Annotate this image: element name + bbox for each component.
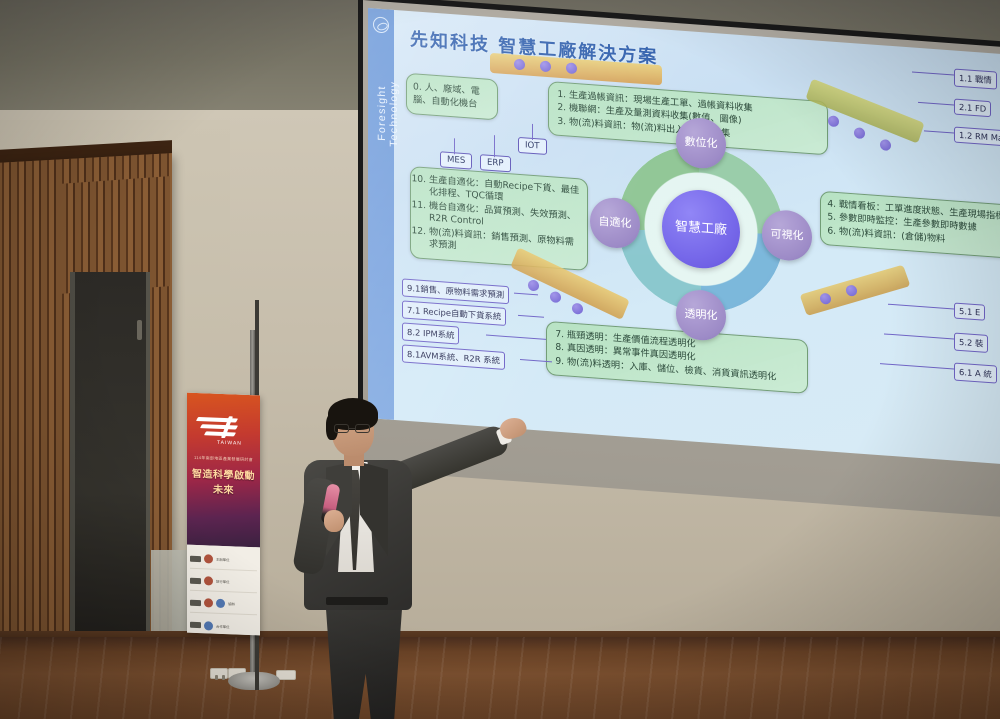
wire-right-4 bbox=[888, 304, 954, 310]
label-war-room[interactable]: 1.1 戰情 bbox=[954, 69, 997, 90]
sponsor-row: 合作單位 bbox=[190, 615, 257, 636]
tag-mes[interactable]: MES bbox=[440, 151, 472, 169]
sponsor-row: 執行單位 bbox=[190, 571, 257, 594]
band-dot bbox=[854, 127, 865, 139]
band-dot bbox=[880, 139, 891, 151]
tag-erp[interactable]: ERP bbox=[480, 154, 511, 172]
sponsor-row: 主辦單位 bbox=[190, 549, 257, 572]
band-dot bbox=[828, 115, 839, 127]
wire-iot bbox=[532, 124, 533, 140]
wire-right-6 bbox=[880, 363, 954, 369]
wire-right-1 bbox=[912, 71, 954, 75]
label-avm-r2r-system[interactable]: 8.1AVM系統、R2R 系統 bbox=[402, 344, 505, 369]
band-dot bbox=[528, 280, 539, 292]
band-dot bbox=[820, 293, 831, 305]
band-dot bbox=[514, 59, 525, 71]
presentation-photo: TAIWAN 114年南部地區產業發展研討會 智造科學啟動未來 主辦單位 執行單… bbox=[0, 0, 1000, 719]
presenter-legs bbox=[322, 600, 406, 719]
label-6-1[interactable]: 6.1 A 統 bbox=[954, 363, 997, 384]
label-recipe-system[interactable]: 7.1 Recipe自動下貨系統 bbox=[402, 300, 506, 326]
callout-adaptive: 生產自適化：自動Recipe下貨、最佳化排程、TQC循環 機台自適化：品質預測、… bbox=[410, 166, 588, 270]
label-5-2[interactable]: 5.2 裝 bbox=[954, 333, 988, 353]
presenter-belt bbox=[326, 597, 388, 605]
banner-sponsor-block: 主辦單位 執行單位 協辦 合作單位 bbox=[187, 545, 260, 636]
smart-factory-ring-diagram: 智慧工廠 數位化 可視化 透明化 自適化 bbox=[596, 117, 806, 342]
foresight-logo-icon bbox=[373, 16, 389, 33]
label-ipm-system[interactable]: 8.2 IPM系統 bbox=[402, 322, 459, 344]
presenter bbox=[286, 392, 516, 719]
callout-inputs-text: 0. 人、廠域、電腦、自動化機台 bbox=[413, 81, 480, 110]
watermark-label: Foresight Technology bbox=[376, 65, 400, 163]
band-dot bbox=[540, 60, 551, 72]
wire-right-3 bbox=[924, 130, 954, 133]
slide-watermark-strip: Foresight Technology bbox=[368, 8, 394, 420]
wire-right-5 bbox=[884, 333, 954, 339]
presenter-glasses bbox=[334, 424, 372, 433]
wire-erp bbox=[494, 135, 495, 157]
door-handle[interactable] bbox=[137, 320, 142, 340]
event-banner: TAIWAN 114年南部地區產業發展研討會 智造科學啟動未來 主辦單位 執行單… bbox=[187, 393, 260, 636]
label-sales-forecast[interactable]: 9.1銷售、原物料需求預測 bbox=[402, 278, 509, 304]
band-dot bbox=[846, 285, 857, 297]
wire-mes bbox=[454, 138, 455, 154]
wire-label-1 bbox=[514, 293, 538, 296]
wall-outlet-1[interactable] bbox=[210, 668, 228, 679]
sponsor-row: 協辦 bbox=[190, 593, 257, 616]
banner-gradient-panel: TAIWAN 114年南部地區產業發展研討會 智造科學啟動未來 bbox=[187, 393, 260, 548]
label-rm-management[interactable]: 1.2 RM Manag bbox=[954, 127, 1000, 148]
band-dot bbox=[566, 62, 577, 74]
label-5-1[interactable]: 5.1 E bbox=[954, 303, 985, 321]
banner-logo-text: TAIWAN bbox=[217, 440, 242, 447]
callout-inputs: 0. 人、廠域、電腦、自動化機台 bbox=[406, 73, 498, 120]
callout-visual: 戰情看板：工單進度狀態、生產現場指標 參數即時監控：生產參數即時數據 物(流)料… bbox=[820, 191, 1000, 259]
band-dot bbox=[572, 303, 583, 315]
band-dot bbox=[550, 291, 561, 303]
banner-headline: 智造科學啟動未來 bbox=[191, 465, 256, 497]
wire-label-3 bbox=[486, 335, 546, 340]
microphone-stand-base bbox=[228, 672, 280, 690]
banner-subtitle: 114年南部地區產業發展研討會 bbox=[193, 455, 254, 463]
wire-right-2 bbox=[918, 102, 954, 106]
label-fd[interactable]: 2.1 FD bbox=[954, 99, 991, 118]
presenter-left-hand bbox=[324, 510, 344, 532]
wire-label-2 bbox=[518, 315, 544, 318]
